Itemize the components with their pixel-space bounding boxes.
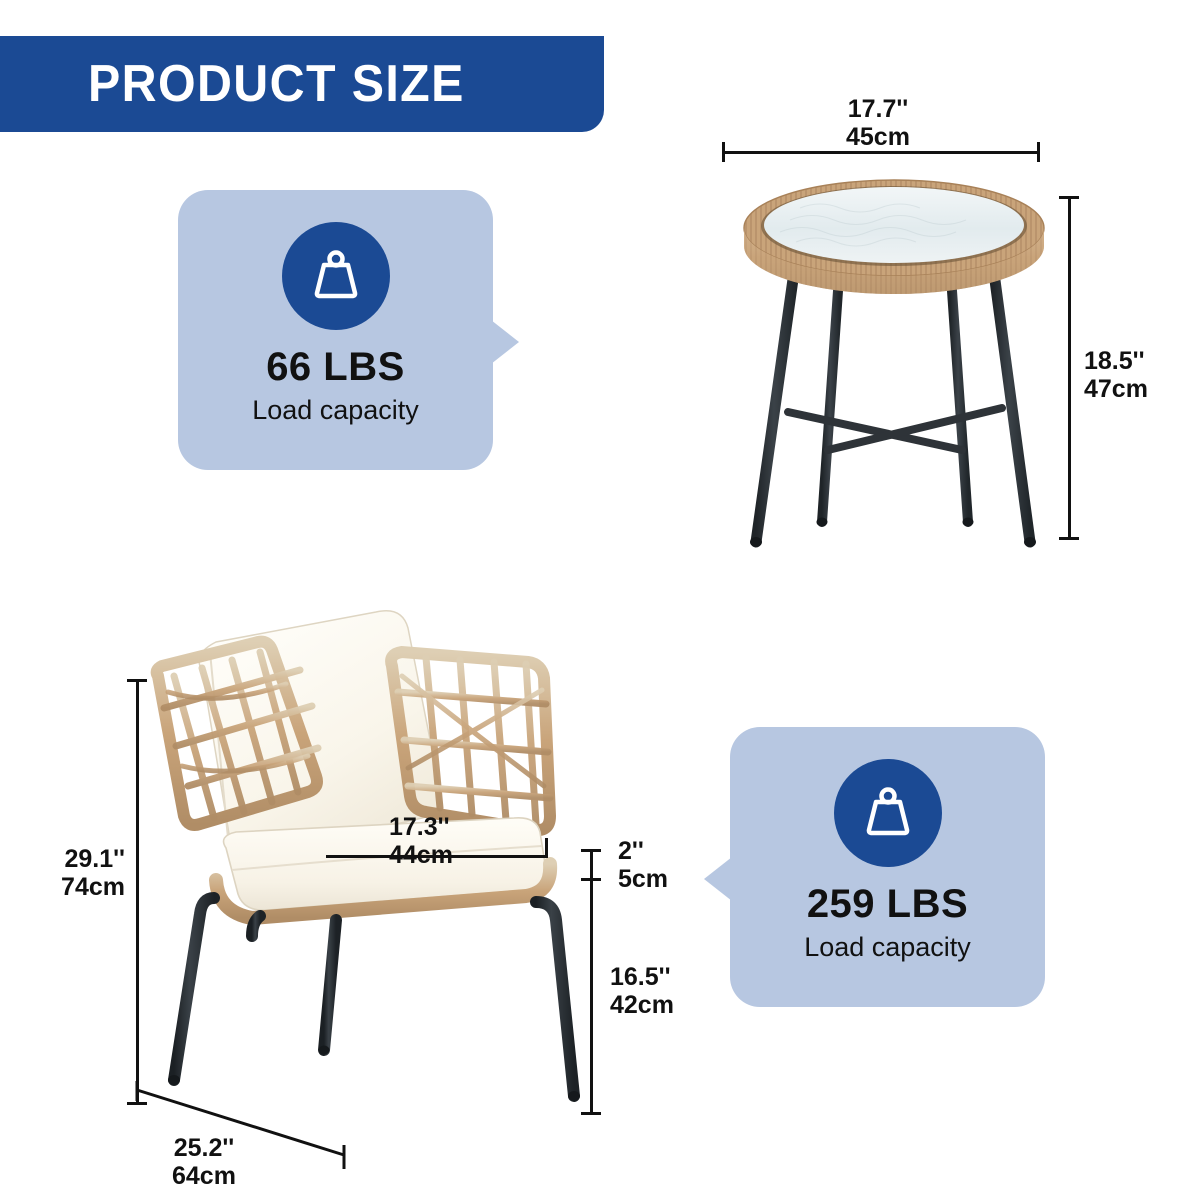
dim-label-seat-height: 16.5'' 42cm <box>610 963 674 1019</box>
load-capacity-label: Load capacity <box>178 395 493 426</box>
load-capacity-card-chair: 259 LBS Load capacity <box>730 727 1045 1007</box>
dim-line-chair-height <box>136 679 139 1105</box>
dim-label-table-height: 18.5'' 47cm <box>1084 347 1148 403</box>
weight-icon <box>305 245 367 307</box>
dim-tick-cushion-bottom <box>581 878 601 881</box>
table-foot-caps <box>750 518 1036 548</box>
table-legs <box>756 258 1030 542</box>
chair-legs <box>174 898 574 1096</box>
dim-tick-table-height-bottom <box>1059 537 1079 540</box>
dim-label-table-width: 17.7'' 45cm <box>846 95 910 151</box>
load-capacity-label: Load capacity <box>730 932 1045 963</box>
dim-tick-table-height-top <box>1059 196 1079 199</box>
dim-tick-cushion-top <box>581 849 601 852</box>
dim-label-cushion-thickness: 2'' 5cm <box>618 837 668 893</box>
page-title: PRODUCT SIZE <box>88 58 465 110</box>
dim-tick-seat-height-bottom <box>581 1112 601 1115</box>
table-top <box>744 180 1044 294</box>
callout-tail-left <box>704 857 732 901</box>
dim-label-seat-depth: 17.3'' 44cm <box>389 813 453 869</box>
infographic-canvas: PRODUCT SIZE 66 LBS Load capacity 259 LB… <box>0 0 1200 1200</box>
dim-line-table-height <box>1068 196 1071 540</box>
load-capacity-value: 66 LBS <box>178 345 493 390</box>
dim-line-table-width <box>722 151 1040 154</box>
dim-line-seat-stack <box>590 849 593 1115</box>
side-table-illustration <box>700 150 1080 570</box>
dim-tick-table-width-right <box>1037 142 1040 162</box>
dim-label-chair-width: 25.2'' 64cm <box>172 1134 236 1190</box>
table-cross-brace <box>788 408 1002 450</box>
dim-label-chair-height: 29.1'' 74cm <box>55 845 125 901</box>
load-capacity-value: 259 LBS <box>730 882 1045 927</box>
dim-line-chair-width <box>120 1085 370 1190</box>
load-capacity-card-table: 66 LBS Load capacity <box>178 190 493 470</box>
callout-tail-right <box>491 320 519 364</box>
header-banner: PRODUCT SIZE <box>0 36 604 132</box>
weight-icon-badge <box>282 222 390 330</box>
weight-icon-badge <box>834 759 942 867</box>
dim-tick-seat-depth-right <box>545 838 548 858</box>
dim-tick-table-width-left <box>722 142 725 162</box>
weight-icon <box>857 782 919 844</box>
armchair-illustration <box>140 580 610 1140</box>
dim-tick-chair-height-top <box>127 679 147 682</box>
